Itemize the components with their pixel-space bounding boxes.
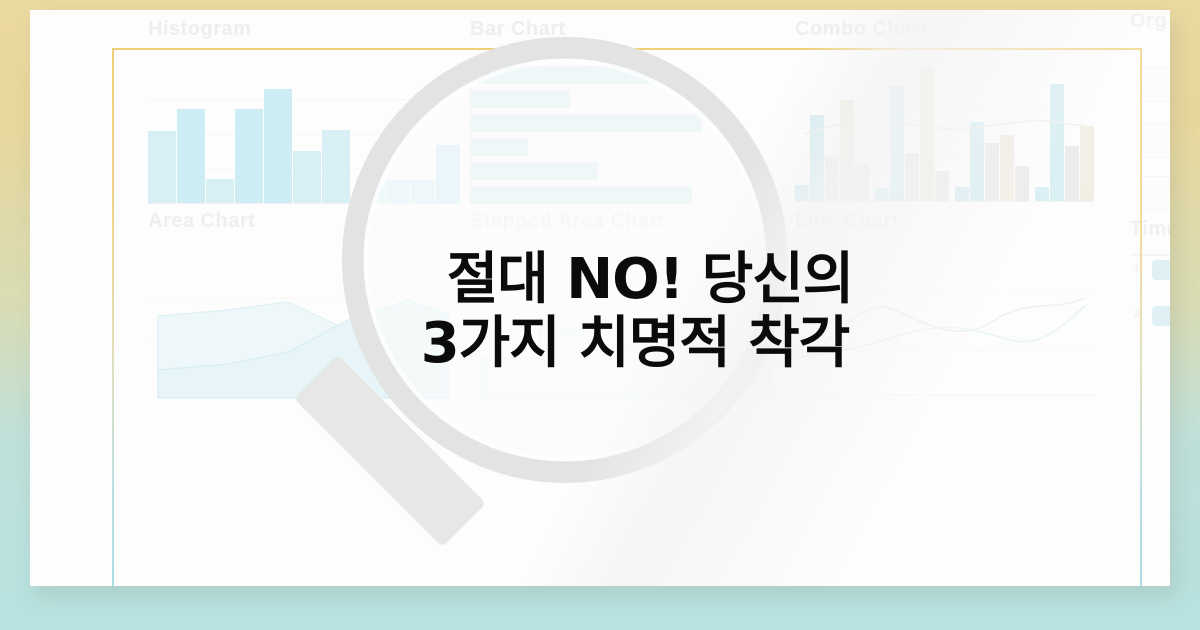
widget-timeline-label: Timeline: [1130, 218, 1170, 241]
widget-combo-chart: Combo Chart: [795, 18, 1115, 208]
content-card: Histogram Bar Chart: [30, 10, 1170, 586]
widget-bar-chart-label: Bar Chart: [470, 18, 566, 41]
combo-chart-plot: [795, 62, 1095, 202]
org-node: [1140, 68, 1170, 102]
widget-area-chart-label: Area Chart: [148, 210, 255, 233]
widget-org-chart-label: Org Chart: [1130, 10, 1170, 33]
headline: 절대 NO! 당신의 3가지 치명적 착각: [30, 248, 1170, 376]
headline-line-2: 3가지 치명적 착각: [30, 312, 1170, 376]
histogram-plot: [148, 64, 418, 204]
widget-histogram: Histogram: [148, 18, 448, 208]
widget-org-chart: Org Chart Item Work Planning Card Assign…: [1130, 10, 1170, 210]
headline-line-1: 절대 NO! 당신의: [30, 248, 1170, 312]
widget-histogram-label: Histogram: [148, 18, 251, 41]
widget-bar-chart: Bar Chart: [470, 18, 790, 208]
bar-chart-bars: [470, 66, 702, 210]
combo-trend-line: [795, 62, 1095, 202]
widget-stepped-area-chart-label: Stepped Area Chart: [470, 210, 665, 233]
widget-line-chart-label: Line Chart: [795, 210, 899, 233]
org-node: [1140, 176, 1170, 210]
widget-combo-chart-label: Combo Chart: [795, 18, 927, 41]
org-node: [1140, 124, 1170, 158]
